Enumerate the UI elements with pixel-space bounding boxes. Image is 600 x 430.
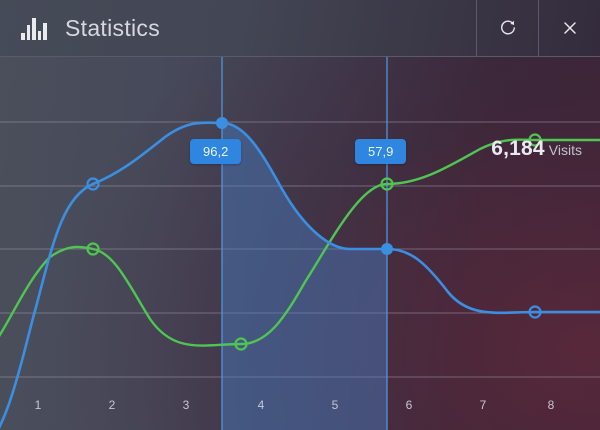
x-tick-6: 6 [406, 398, 413, 412]
widget-header: Statistics [0, 0, 600, 57]
bar-chart-icon [21, 16, 47, 40]
data-point-marker-active[interactable] [216, 117, 228, 129]
visits-label: Visits [549, 142, 582, 158]
tooltip-badge-1[interactable]: 96,2 [190, 139, 241, 164]
x-tick-8: 8 [548, 398, 555, 412]
close-button[interactable] [538, 0, 600, 57]
blue-area-fill [0, 123, 600, 430]
x-tick-3: 3 [183, 398, 190, 412]
page-title: Statistics [65, 15, 160, 42]
visits-summary: 6,184Visits [491, 137, 582, 161]
x-axis: 1 2 3 4 5 6 7 8 [0, 390, 600, 430]
chart-svg [0, 57, 600, 430]
visits-count: 6,184 [491, 137, 545, 160]
close-icon [562, 20, 578, 36]
chart-body: 96,2 57,9 6,184Visits 1 2 3 4 5 6 7 8 [0, 57, 600, 430]
x-tick-5: 5 [332, 398, 339, 412]
data-point-marker-active[interactable] [381, 243, 393, 255]
x-tick-7: 7 [480, 398, 487, 412]
chart-plot [0, 57, 600, 430]
x-tick-4: 4 [258, 398, 265, 412]
brand: Statistics [0, 15, 476, 42]
refresh-button[interactable] [476, 0, 538, 57]
x-tick-2: 2 [109, 398, 116, 412]
x-tick-1: 1 [35, 398, 42, 412]
refresh-icon [499, 19, 517, 37]
tooltip-badge-2[interactable]: 57,9 [355, 139, 406, 164]
statistics-widget: Statistics [0, 0, 600, 430]
